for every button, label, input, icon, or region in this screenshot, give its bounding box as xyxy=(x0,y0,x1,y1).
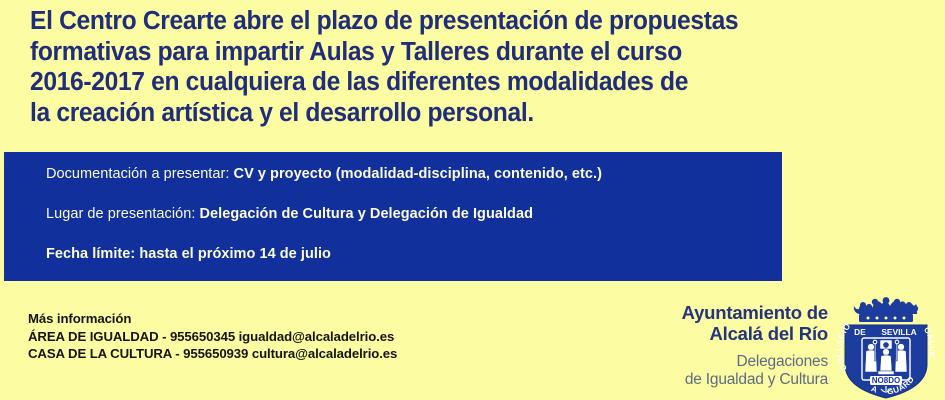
info-row-label: Documentación a presentar: xyxy=(46,166,234,182)
info-row-label: Lugar de presentación: xyxy=(46,206,200,222)
logo-text-block: Ayuntamiento de Alcalá del Río Delegacio… xyxy=(682,292,828,389)
info-row: Lugar de presentación: Delegación de Cul… xyxy=(46,206,782,223)
svg-text:NO8DO: NO8DO xyxy=(872,376,900,385)
contact-block: Más información ÁREA DE IGUALDAD - 95565… xyxy=(28,310,397,363)
crest-top-left-label: DE xyxy=(854,327,866,337)
info-row: Fecha límite: hasta el próximo 14 de jul… xyxy=(46,246,782,263)
logo-title: Ayuntamiento de Alcalá del Río xyxy=(682,302,828,344)
page-headline: El Centro Crearte abre el plazo de prese… xyxy=(30,6,889,128)
contact-line-cultura: CASA DE LA CULTURA - 955650939 cultura@a… xyxy=(28,345,397,363)
info-row-value: CV y proyecto (modalidad-disciplina, con… xyxy=(234,166,602,182)
info-row-value: Delegación de Cultura y Delegación de Ig… xyxy=(200,206,533,222)
coat-of-arms-icon: DE SEVILLA COLLACION CALLE GUARDA A xyxy=(837,292,935,400)
crest-top-right-label: SEVILLA xyxy=(881,327,916,337)
logo-subtitle: Delegaciones de Igualdad y Cultura xyxy=(682,353,828,389)
institutional-logo: Ayuntamiento de Alcalá del Río Delegacio… xyxy=(682,292,935,400)
info-row-value: Fecha límite: hasta el próximo 14 de jul… xyxy=(46,246,331,262)
contact-heading: Más información xyxy=(28,310,397,328)
contact-line-igualdad: ÁREA DE IGUALDAD - 955650345 igualdad@al… xyxy=(28,328,397,346)
info-row: Documentación a presentar: CV y proyecto… xyxy=(46,166,782,183)
info-panel: Documentación a presentar: CV y proyecto… xyxy=(4,152,782,281)
